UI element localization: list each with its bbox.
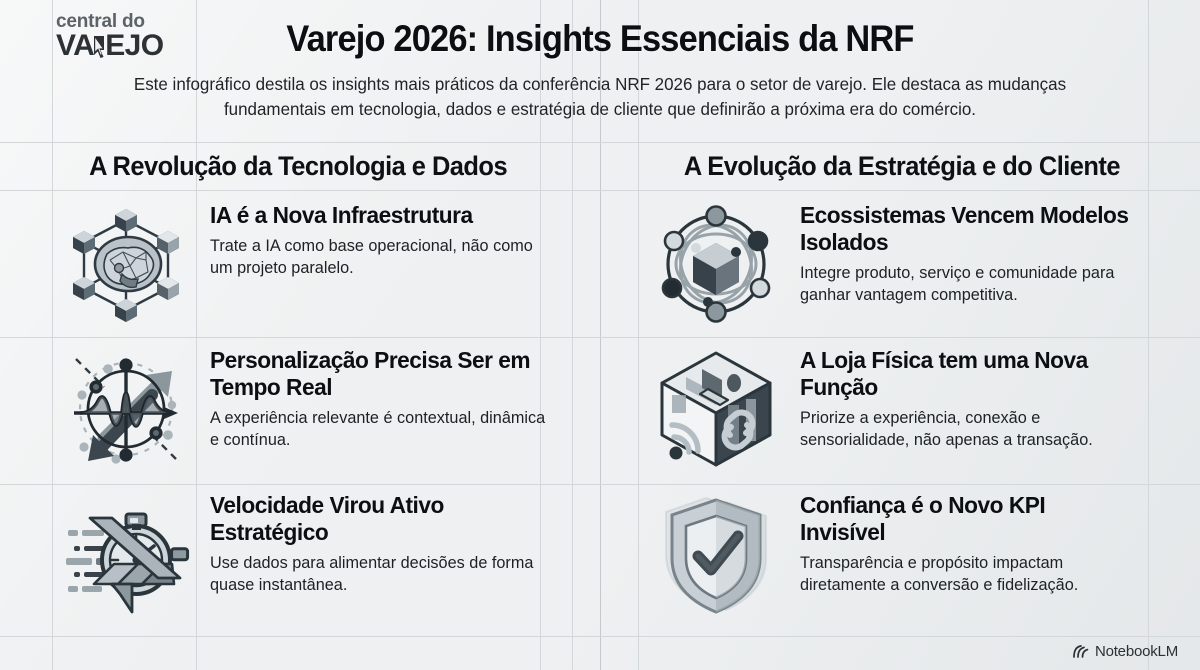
card-title: Ecossistemas Vencem Modelos Isolados: [800, 202, 1132, 256]
page-subtitle: Este infográfico destila os insights mai…: [86, 72, 1114, 122]
page-title: Varejo 2026: Insights Essenciais da NRF: [42, 0, 1158, 60]
ai-brain-network-icon: [56, 196, 196, 332]
card-description: Use dados para alimentar decisões de for…: [210, 553, 549, 597]
card-body: Ecossistemas Vencem Modelos Isolados Int…: [800, 196, 1144, 307]
infographic-page: central do VA EJO Varejo 2026: Insights …: [0, 0, 1200, 670]
section-heading-strategy: A Evolução da Estratégia e do Cliente: [612, 151, 1188, 182]
store-cube-wifi-link-icon: [646, 341, 786, 477]
card-description: Trate a IA como base operacional, não co…: [210, 236, 549, 280]
card-body: Confiança é o Novo KPI Invisível Transpa…: [800, 486, 1144, 597]
realtime-waveform-icon: [56, 341, 196, 477]
card-ai-infrastructure[interactable]: IA é a Nova Infraestrutura Trate a IA co…: [56, 190, 554, 335]
card-speed-strategic-asset[interactable]: Velocidade Virou Ativo Estratégico Use d…: [56, 480, 554, 625]
section-heading-col-right: A Evolução da Estratégia e do Cliente: [600, 151, 1200, 182]
section-heading-technology: A Revolução da Tecnologia e Dados: [12, 151, 588, 182]
cards-grid: IA é a Nova Infraestrutura Trate a IA co…: [0, 190, 1200, 625]
card-title: Confiança é o Novo KPI Invisível: [800, 492, 1132, 546]
shield-check-icon: [646, 486, 786, 622]
header: central do VA EJO Varejo 2026: Insights …: [0, 0, 1200, 142]
card-title: IA é a Nova Infraestrutura: [210, 202, 542, 229]
card-ecosystems-win[interactable]: Ecossistemas Vencem Modelos Isolados Int…: [646, 190, 1144, 335]
card-physical-store-role[interactable]: A Loja Física tem uma Nova Função Priori…: [646, 335, 1144, 480]
card-body: IA é a Nova Infraestrutura Trate a IA co…: [210, 196, 554, 280]
card-trust-kpi[interactable]: Confiança é o Novo KPI Invisível Transpa…: [646, 480, 1144, 625]
stopwatch-speed-icon: [56, 486, 196, 622]
card-realtime-personalization[interactable]: Personalização Precisa Ser em Tempo Real…: [56, 335, 554, 480]
ecosystem-orbit-cube-icon: [646, 196, 786, 332]
card-description: A experiência relevante é contextual, di…: [210, 408, 549, 452]
notebooklm-label: NotebookLM: [1095, 643, 1178, 660]
card-description: Transparência e propósito impactam diret…: [800, 553, 1139, 597]
card-body: Velocidade Virou Ativo Estratégico Use d…: [210, 486, 554, 597]
card-description: Integre produto, serviço e comunidade pa…: [800, 263, 1139, 307]
card-description: Priorize a experiência, conexão e sensor…: [800, 408, 1139, 452]
notebooklm-icon: [1072, 644, 1089, 659]
card-title: Velocidade Virou Ativo Estratégico: [210, 492, 542, 546]
card-title: Personalização Precisa Ser em Tempo Real: [210, 347, 542, 401]
card-body: A Loja Física tem uma Nova Função Priori…: [800, 341, 1144, 452]
section-headings: A Revolução da Tecnologia e Dados A Evol…: [0, 142, 1200, 190]
card-title: A Loja Física tem uma Nova Função: [800, 347, 1132, 401]
column-technology: IA é a Nova Infraestrutura Trate a IA co…: [0, 190, 600, 625]
section-heading-col-left: A Revolução da Tecnologia e Dados: [0, 151, 600, 182]
card-body: Personalização Precisa Ser em Tempo Real…: [210, 341, 554, 452]
notebooklm-footer: NotebookLM: [1072, 643, 1178, 660]
column-strategy: Ecossistemas Vencem Modelos Isolados Int…: [600, 190, 1200, 625]
